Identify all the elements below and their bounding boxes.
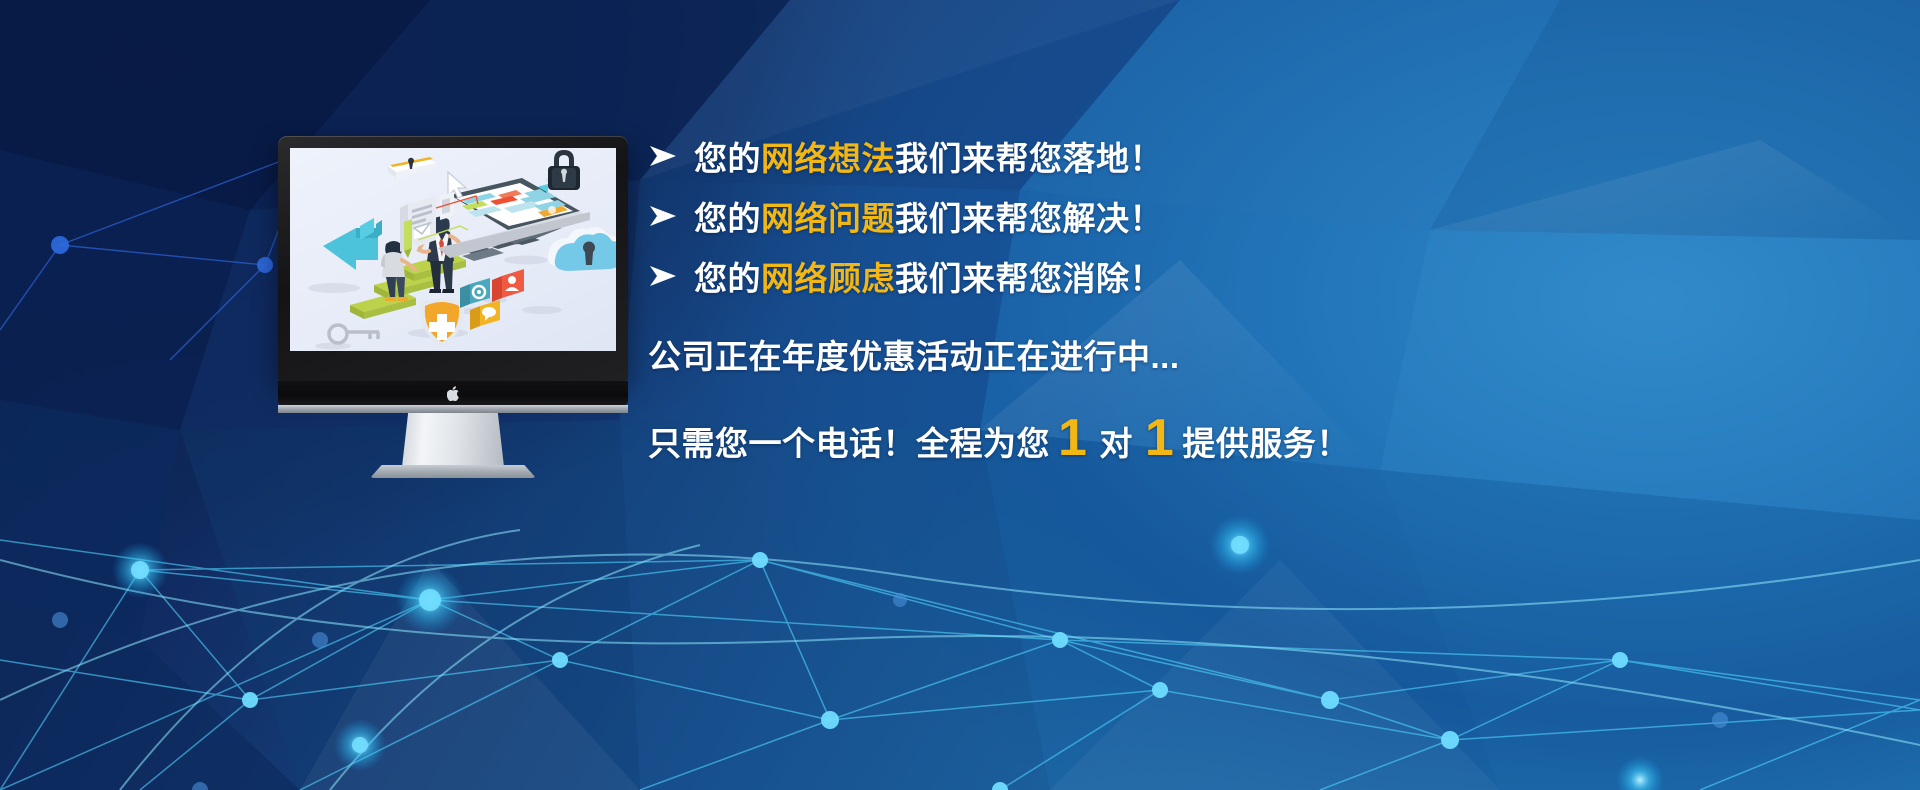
pencil-icon [404,219,412,258]
service-line-part1: 只需您一个电话！全程为您 [648,417,1050,465]
gear-app-icon [460,278,490,308]
bullet-highlight-3: 网络顾虑 [761,260,895,297]
shield-plus-icon [420,298,464,347]
key-icon [329,325,379,343]
monitor-screen [290,148,616,351]
monitor-stand-foot [370,465,536,478]
bullet-suffix-2: 我们来帮您解决！ [895,200,1163,237]
arrow-bullet-icon [648,145,694,167]
bullet-prefix-1: 您的 [694,140,761,177]
arrow-bullet-icon [648,205,694,227]
keycard-icon [388,157,436,178]
bullet-text-1: 您的网络想法我们来帮您落地！ [694,132,1163,180]
banner-text-column: 您的网络想法我们来帮您落地！ 您的网络问题我们来帮您解决！ 您的网络顾虑我们来帮… [648,126,1408,465]
bullet-item-1: 您的网络想法我们来帮您落地！ [648,126,1408,186]
bullet-prefix-3: 您的 [694,260,761,297]
monitor-body [278,136,628,381]
user-app-icon [492,269,524,302]
service-line: 只需您一个电话！全程为您 1 对 1 提供服务！ [648,412,1408,465]
imac-monitor-illustration [278,136,628,446]
apple-logo-icon [447,386,460,401]
arrow-bullet-icon [648,265,694,287]
bullet-suffix-1: 我们来帮您落地！ [895,140,1163,177]
padlock-icon [548,150,580,190]
isometric-network-scene [290,148,616,351]
bullet-highlight-1: 网络想法 [761,140,895,177]
bullet-text-3: 您的网络顾虑我们来帮您消除！ [694,252,1163,300]
promo-line: 公司正在年度优惠活动正在进行中... [648,330,1408,378]
bullet-suffix-3: 我们来帮您消除！ [895,260,1163,297]
monitor-base-strip [278,405,628,413]
monitor-stand-neck [402,413,504,467]
bullet-item-3: 您的网络顾虑我们来帮您消除！ [648,246,1408,306]
service-number-1: 1 [1050,412,1095,464]
cloud-keyhole-icon [548,227,616,271]
bullet-highlight-2: 网络问题 [761,200,895,237]
bullet-item-2: 您的网络问题我们来帮您解决！ [648,186,1408,246]
bullet-prefix-2: 您的 [694,200,761,237]
service-line-part2: 提供服务！ [1182,417,1350,465]
monitor-chin-bezel [278,381,628,405]
bullet-text-2: 您的网络问题我们来帮您解决！ [694,192,1163,240]
service-number-2: 1 [1137,412,1182,464]
service-line-middle: 对 [1095,417,1137,465]
arrow-left-icon [323,218,382,270]
promotional-banner: 您的网络想法我们来帮您落地！ 您的网络问题我们来帮您解决！ 您的网络顾虑我们来帮… [0,0,1920,790]
chat-app-icon [470,300,500,330]
